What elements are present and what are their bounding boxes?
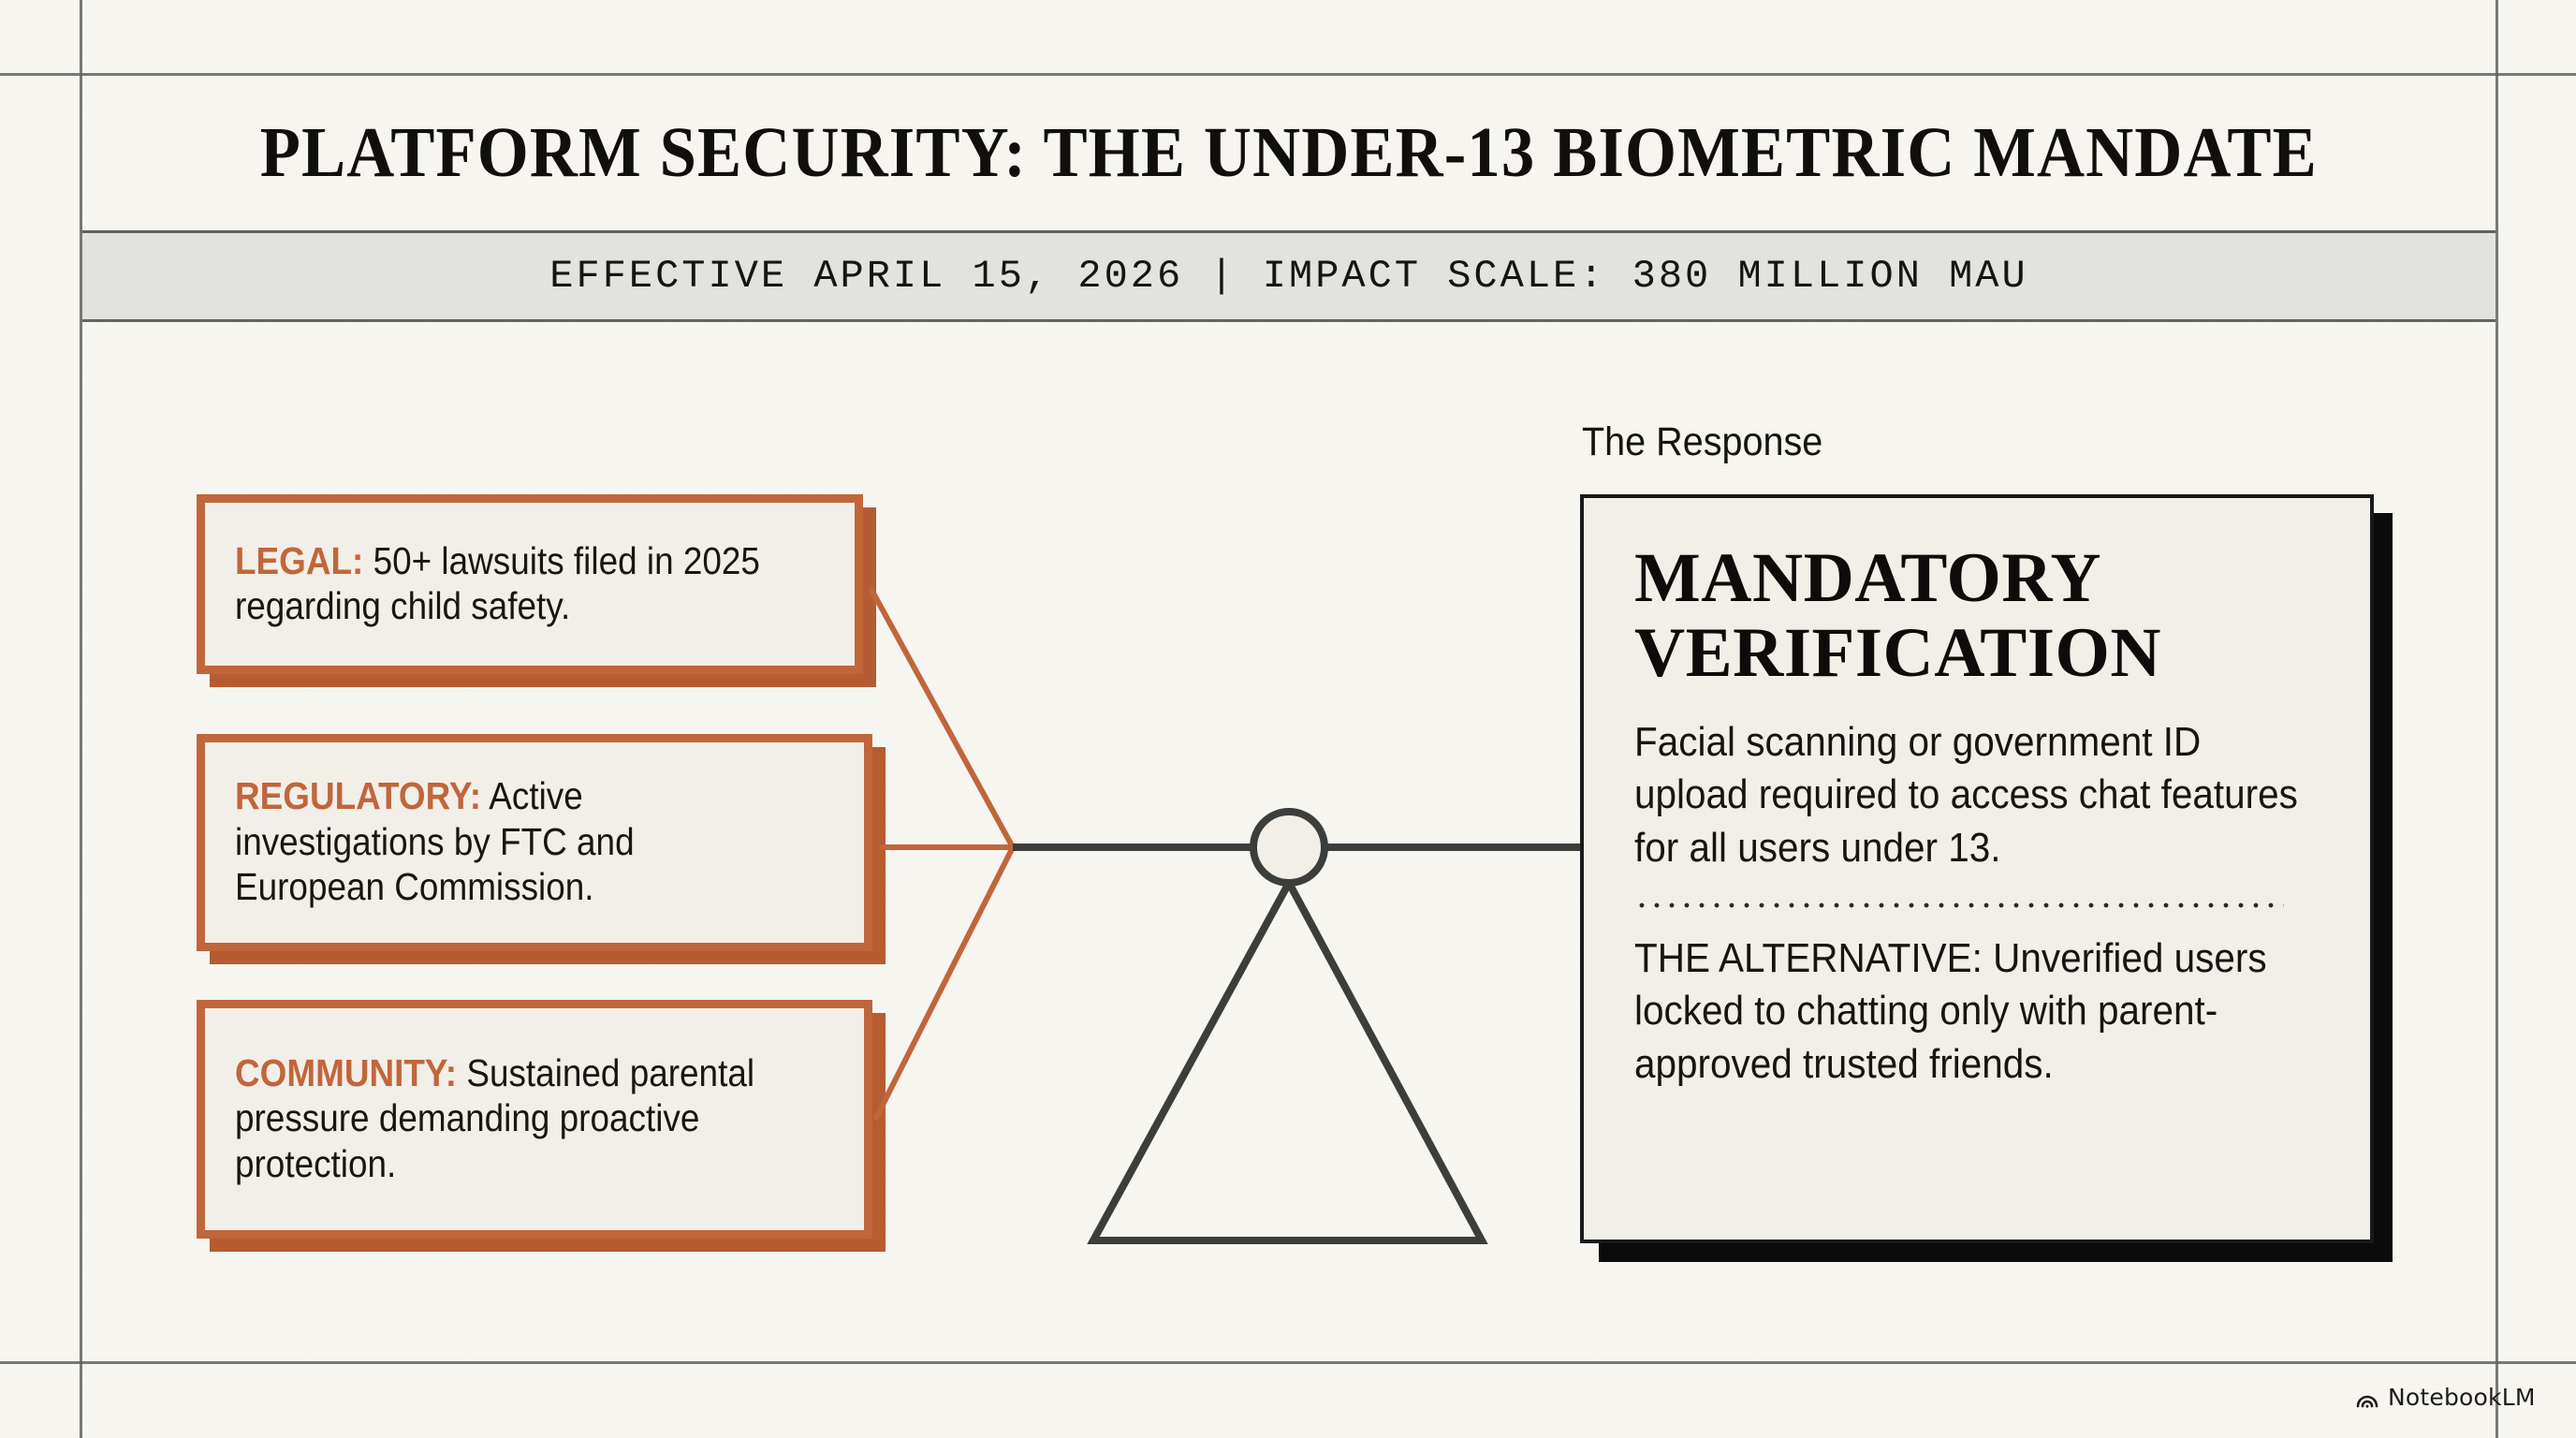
driver-card-label: REGULATORY: <box>235 774 481 817</box>
page-rule-horizontal-bottom <box>0 1361 2576 1364</box>
fulcrum-triangle <box>1093 883 1482 1240</box>
slide-canvas: PLATFORM SECURITY: THE UNDER-13 BIOMETRI… <box>0 0 2576 1438</box>
driver-card-text: COMMUNITY: Sustained parental pressure d… <box>235 1050 776 1186</box>
driver-card-label: COMMUNITY: <box>235 1051 457 1094</box>
response-heading: MANDATORY VERIFICATION <box>1634 541 2325 690</box>
driver-card-regulatory: REGULATORY: Active investigations by FTC… <box>197 734 872 951</box>
driver-card-label: LEGAL: <box>235 539 363 582</box>
response-alternative-text: THE ALTERNATIVE: Unverified users locked… <box>1634 932 2320 1091</box>
response-eyebrow-label: The Response <box>1582 419 1822 465</box>
dotted-divider <box>1634 902 2284 908</box>
connector-line-community <box>875 847 1013 1120</box>
page-rule-vertical-right <box>2495 0 2498 1438</box>
fulcrum-pivot-circle <box>1253 812 1325 883</box>
subtitle-bar: EFFECTIVE APRIL 15, 2026 | IMPACT SCALE:… <box>82 230 2495 322</box>
notebooklm-brand: NotebookLM <box>2355 1384 2536 1411</box>
connector-line-legal <box>871 588 1013 847</box>
notebooklm-logo-icon <box>2355 1386 2379 1410</box>
driver-card-legal: LEGAL: 50+ lawsuits filed in 2025 regard… <box>197 494 863 674</box>
subtitle-text: EFFECTIVE APRIL 15, 2026 | IMPACT SCALE:… <box>549 254 2027 299</box>
driver-card-text: LEGAL: 50+ lawsuits filed in 2025 regard… <box>235 538 768 629</box>
response-body-text: Facial scanning or government ID upload … <box>1634 716 2320 874</box>
driver-card-community: COMMUNITY: Sustained parental pressure d… <box>197 1000 872 1239</box>
response-box: MANDATORY VERIFICATION Facial scanning o… <box>1580 494 2374 1243</box>
notebooklm-brand-label: NotebookLM <box>2388 1384 2536 1411</box>
driver-card-text: REGULATORY: Active investigations by FTC… <box>235 773 776 909</box>
header-block: PLATFORM SECURITY: THE UNDER-13 BIOMETRI… <box>82 76 2495 230</box>
page-title: PLATFORM SECURITY: THE UNDER-13 BIOMETRI… <box>260 112 2318 194</box>
